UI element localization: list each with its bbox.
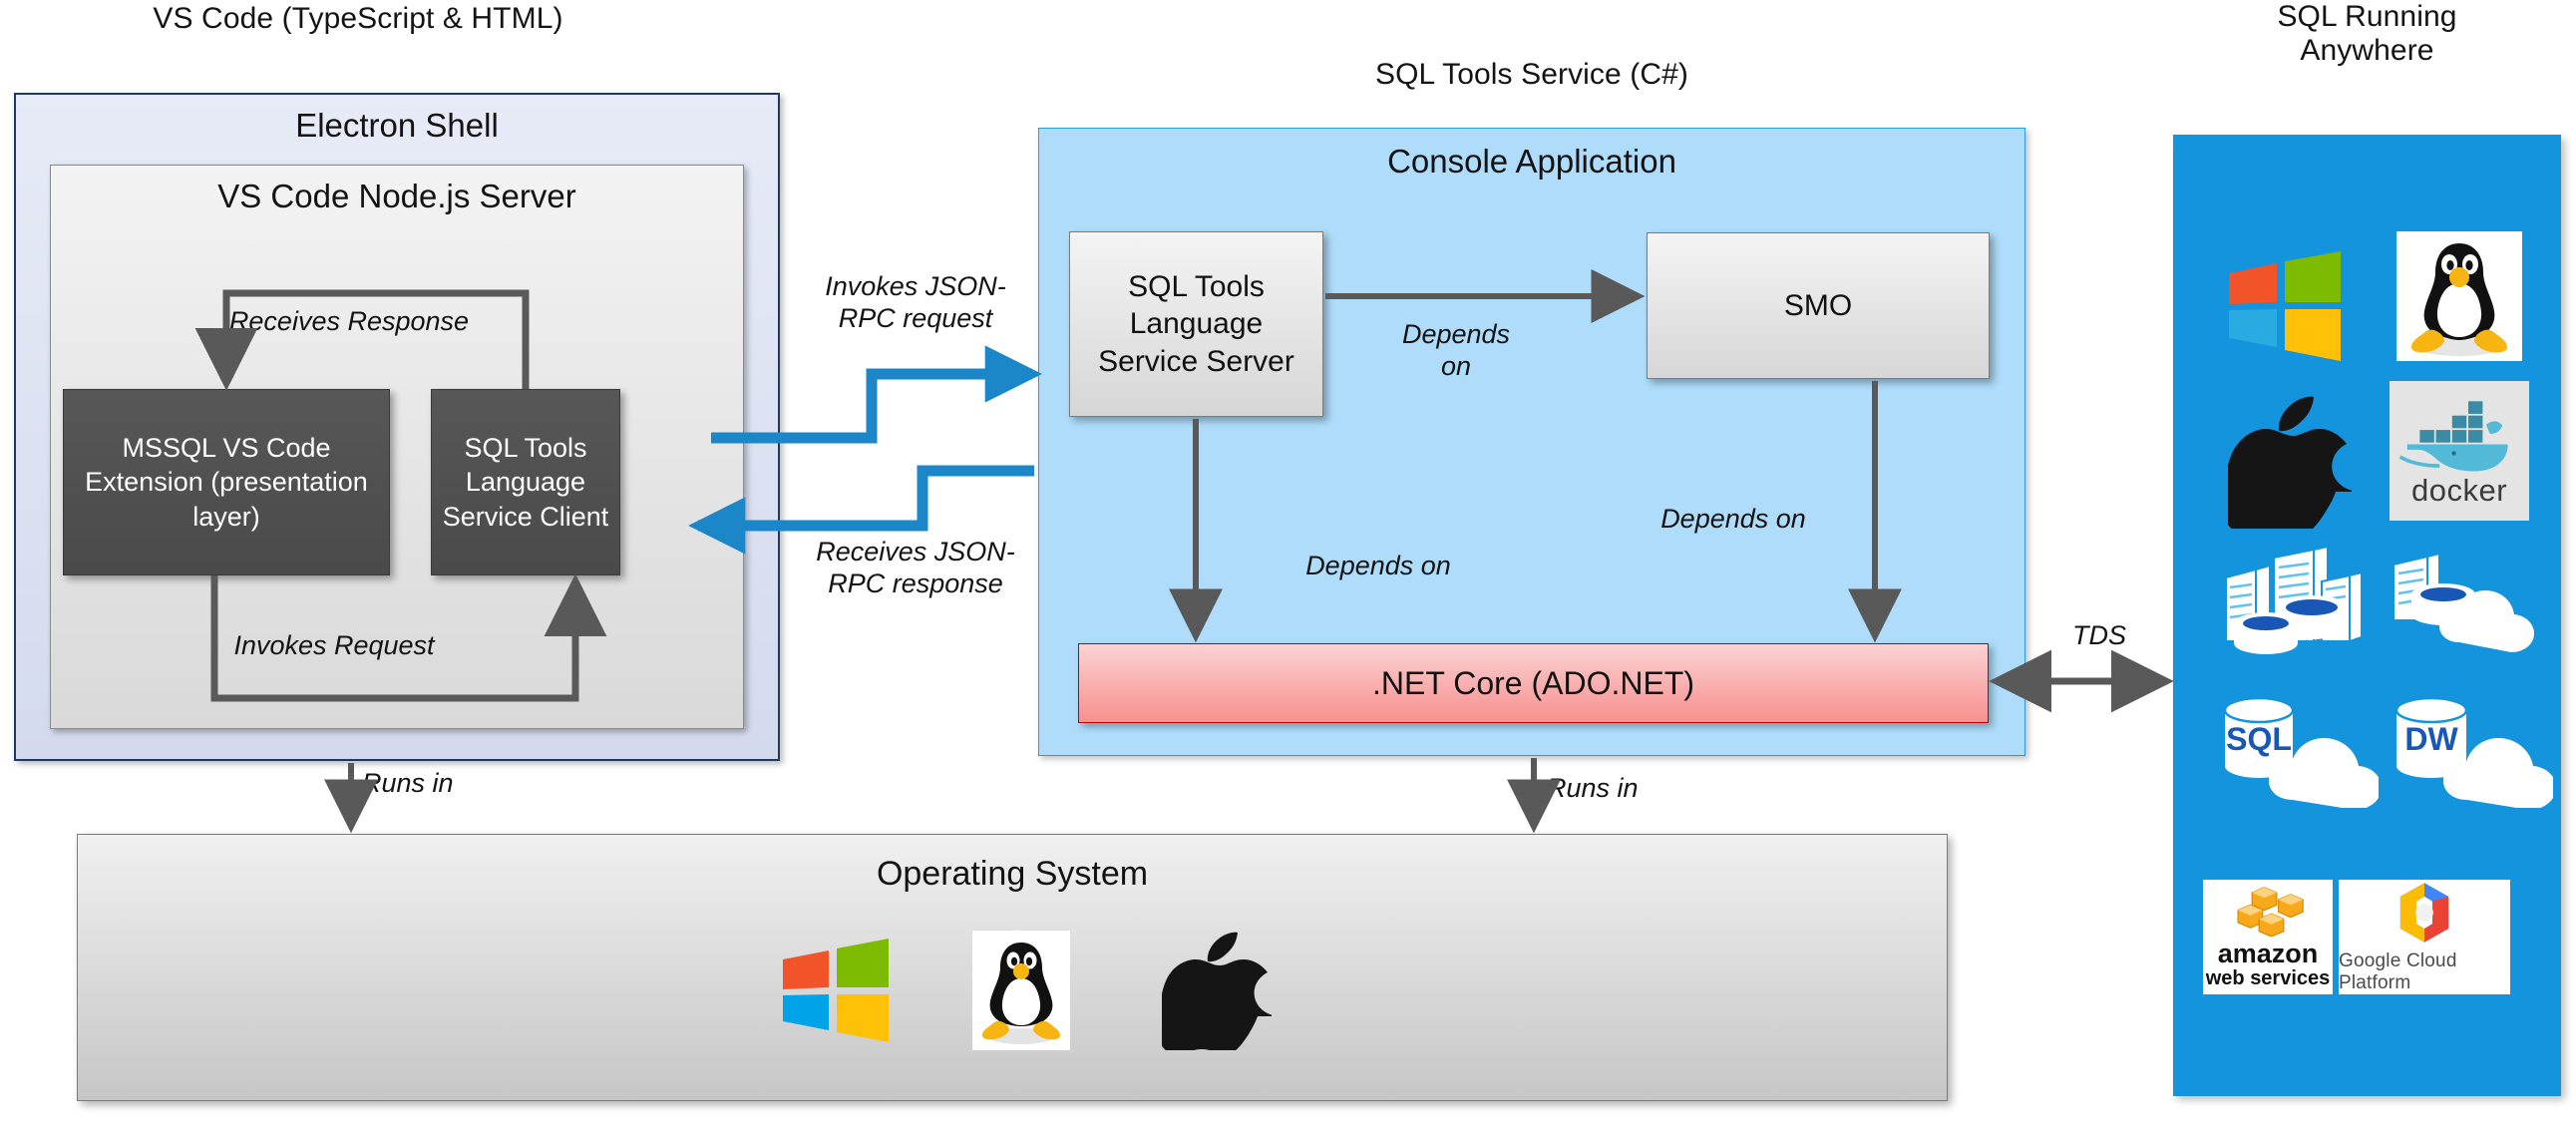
label-receives-response: Receives Response xyxy=(184,306,514,338)
aws-label-webservices: web services xyxy=(2206,968,2331,988)
label-receives-json-rpc-response: Receives JSON- RPC response xyxy=(796,537,1035,600)
azure-sql-data-warehouse-icon: DW xyxy=(2382,688,2553,808)
google-cloud-platform-logo-icon: Google Cloud Platform xyxy=(2339,880,2510,994)
azure-dw-text: DW xyxy=(2404,721,2458,757)
caption-vscode: VS Code (TypeScript & HTML) xyxy=(0,2,716,36)
label-depends-on-smo: Depends on xyxy=(1371,319,1541,383)
label-invokes-json-rpc-request: Invokes JSON- RPC request xyxy=(796,271,1035,335)
operating-system-title: Operating System xyxy=(78,855,1947,894)
label-runs-in-left: Runs in xyxy=(362,768,561,800)
windows-logo-icon xyxy=(2227,249,2343,361)
docker-label: docker xyxy=(2411,473,2507,509)
docker-logo-icon: docker xyxy=(2390,381,2529,521)
console-application-title: Console Application xyxy=(1039,143,2024,181)
linux-tux-icon xyxy=(972,931,1070,1050)
amazon-web-services-logo-icon: amazon web services xyxy=(2203,880,2333,994)
apple-logo-icon xyxy=(1162,923,1272,1050)
aws-label-amazon: amazon xyxy=(2218,941,2319,967)
caption-sql-running-anywhere: SQL Running Anywhere xyxy=(2173,0,2561,67)
caption-sqltools-service: SQL Tools Service (C#) xyxy=(1038,58,2025,92)
label-invokes-request: Invokes Request xyxy=(170,630,499,662)
label-depends-on-smo-to-netcore: Depends on xyxy=(1609,504,1858,536)
label-runs-in-right: Runs in xyxy=(1547,773,1746,805)
sql-tools-language-service-server-box[interactable]: SQL Tools Language Service Server xyxy=(1069,231,1323,417)
diagram-canvas: VS Code (TypeScript & HTML) SQL Tools Se… xyxy=(0,0,2576,1134)
windows-logo-icon xyxy=(781,938,891,1042)
gcp-label: Google Cloud Platform xyxy=(2339,950,2510,994)
apple-logo-icon xyxy=(2228,389,2352,529)
dotnet-core-adonet-label: .NET Core (ADO.NET) xyxy=(1372,665,1694,702)
mssql-vscode-extension-box[interactable]: MSSQL VS Code Extension (presentation la… xyxy=(63,389,390,575)
electron-shell-title: Electron Shell xyxy=(16,107,778,145)
linux-tux-icon xyxy=(2396,231,2522,361)
label-depends-on-netcore: Depends on xyxy=(1254,551,1503,582)
on-premises-datacenter-icon xyxy=(2216,544,2371,663)
azure-sql-db-text: SQL xyxy=(2226,721,2292,757)
private-cloud-database-icon xyxy=(2386,547,2551,664)
sql-tools-language-service-client-box[interactable]: SQL Tools Language Service Client xyxy=(431,389,620,575)
vscode-node-server-title: VS Code Node.js Server xyxy=(51,178,743,215)
azure-sql-database-icon: SQL xyxy=(2211,688,2379,808)
mssql-vscode-extension-label: MSSQL VS Code Extension (presentation la… xyxy=(74,431,379,533)
smo-label: SMO xyxy=(1784,287,1852,324)
sql-tools-language-service-client-label: SQL Tools Language Service Client xyxy=(442,431,609,533)
dotnet-core-adonet-box[interactable]: .NET Core (ADO.NET) xyxy=(1078,643,1989,723)
sql-tools-language-service-server-label: SQL Tools Language Service Server xyxy=(1078,268,1314,380)
smo-box[interactable]: SMO xyxy=(1647,232,1990,379)
